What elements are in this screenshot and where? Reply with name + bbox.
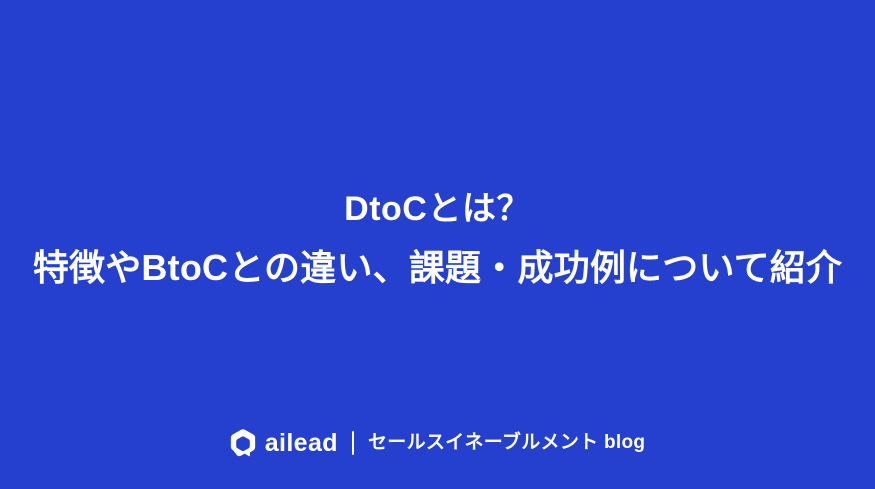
page-title: DtoCとは？ 特徴やBtoCとの違い、課題・成功例について紹介: [0, 188, 875, 290]
brand-lockup: ailead: [230, 429, 338, 457]
title-line-primary: DtoCとは？: [0, 188, 875, 230]
ailead-hexagon-logo-icon: [230, 429, 256, 457]
blog-thumbnail-slide: DtoCとは？ 特徴やBtoCとの違い、課題・成功例について紹介 ailead …: [0, 0, 875, 489]
brand-tagline: セールスイネーブルメント blog: [368, 431, 645, 455]
brand-divider: [352, 431, 354, 455]
brand-name-label: ailead: [265, 431, 338, 456]
brand-footer: ailead セールスイネーブルメント blog: [0, 429, 875, 457]
title-line-secondary: 特徴やBtoCとの違い、課題・成功例について紹介: [0, 246, 875, 290]
